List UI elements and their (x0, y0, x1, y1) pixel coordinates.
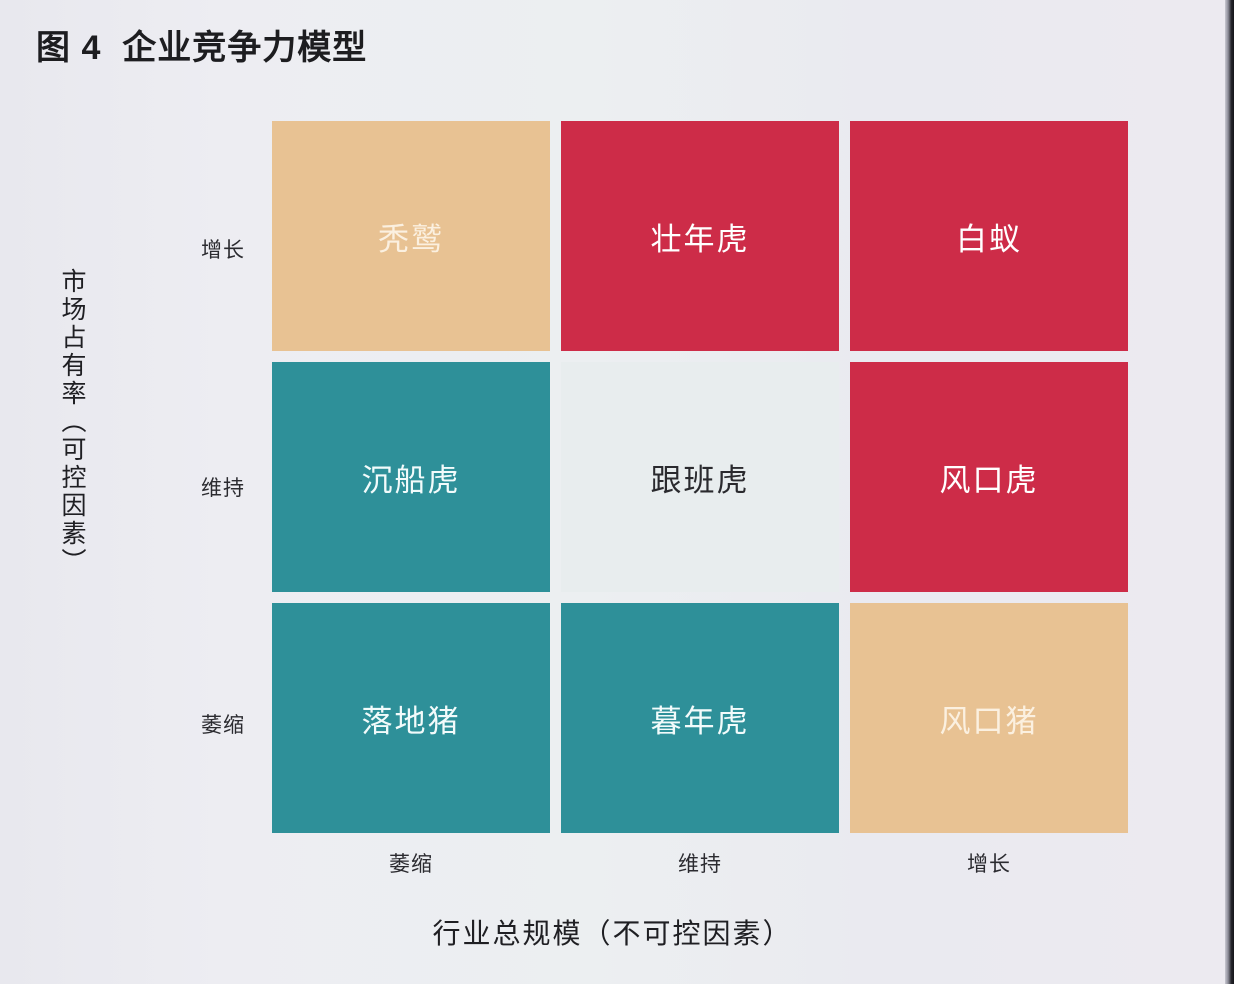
matrix-cell[interactable]: 秃鹫 (272, 121, 550, 351)
matrix-cell[interactable]: 白蚁 (850, 121, 1128, 351)
x-axis-tick-shrink: 萎缩 (272, 848, 550, 878)
figure-title: 图 4 企业竞争力模型 (36, 28, 367, 69)
y-axis-title: 市场占有率（可控因素） (40, 268, 84, 576)
competitiveness-matrix: 秃鹫 壮年虎 白蚁 沉船虎 跟班虎 风口虎 落地猪 暮年虎 风口猪 (272, 121, 1128, 833)
matrix-cell[interactable]: 风口虎 (850, 362, 1128, 592)
matrix-cell[interactable]: 风口猪 (850, 603, 1128, 833)
right-edge-strip (1225, 0, 1234, 984)
matrix-cell[interactable]: 壮年虎 (561, 121, 839, 351)
y-axis-tick-shrink: 萎缩 (186, 709, 260, 739)
x-axis-tick-growth: 增长 (850, 848, 1128, 878)
matrix-cell[interactable]: 沉船虎 (272, 362, 550, 592)
matrix-cell[interactable]: 暮年虎 (561, 603, 839, 833)
matrix-cell[interactable]: 落地猪 (272, 603, 550, 833)
x-axis-tick-maintain: 维持 (561, 848, 839, 878)
matrix-cell[interactable]: 跟班虎 (561, 362, 839, 592)
y-axis-tick-maintain: 维持 (186, 472, 260, 502)
figure-canvas: 图 4 企业竞争力模型 市场占有率（可控因素） 增长 维持 萎缩 秃鹫 壮年虎 … (0, 0, 1234, 984)
x-axis-title: 行业总规模（不可控因素） (0, 912, 1225, 952)
y-axis-tick-growth: 增长 (186, 234, 260, 264)
